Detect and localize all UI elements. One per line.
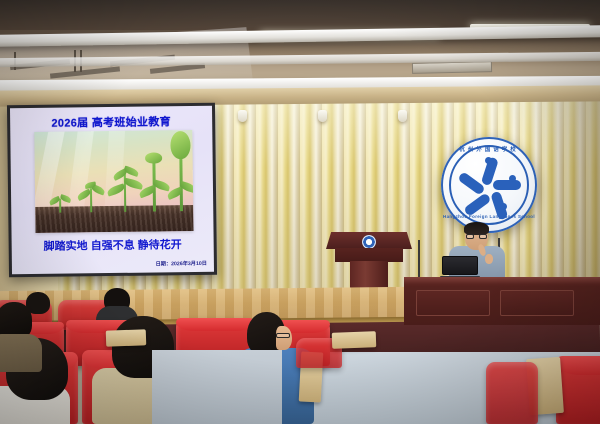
projection-screen: 2026届 高考班始业教育	[7, 103, 217, 278]
seat	[486, 362, 538, 424]
slide-subtitle: 脚踏实地 自强不息 静待花开	[12, 236, 214, 254]
spotlight	[238, 110, 247, 122]
seedling	[77, 178, 105, 212]
seedling	[107, 164, 144, 212]
seedling	[49, 191, 71, 213]
seat-headrest	[556, 356, 600, 375]
laptop-screen	[442, 256, 478, 275]
podium	[326, 232, 412, 294]
auditorium-scene: 杭州外国语学校 Hangzhou Foreign Languages Schoo…	[0, 0, 600, 424]
seat-tray	[106, 329, 147, 346]
emblem-dot	[500, 203, 507, 210]
emblem-dot	[462, 175, 469, 182]
stem	[59, 199, 61, 213]
glasses-icon	[276, 333, 290, 338]
spotlight	[398, 110, 407, 122]
podium-body	[335, 248, 403, 262]
seat	[556, 356, 600, 424]
desk-top	[404, 277, 600, 284]
desk-panel	[500, 290, 574, 316]
leaf	[106, 183, 126, 196]
ceiling	[0, 0, 600, 96]
bud	[170, 131, 190, 159]
spotlight	[318, 110, 327, 122]
presenter-desk	[404, 277, 600, 325]
leaf	[59, 194, 71, 203]
emblem-english-text: Hangzhou Foreign Languages School	[441, 214, 537, 219]
slide-title: 2026届 高考班始业教育	[10, 113, 212, 131]
glasses-lens	[466, 234, 474, 239]
emblem-swirl	[493, 180, 521, 190]
seedling	[166, 133, 193, 211]
microphone-stand	[418, 240, 420, 278]
seat-tray	[332, 331, 377, 349]
aisle-floor	[152, 350, 282, 424]
glasses-lens	[479, 234, 487, 239]
presenter-hand	[485, 254, 493, 264]
emblem-dot	[485, 157, 492, 164]
slide-date: 日期：2026年3月10日	[156, 260, 207, 268]
bud	[145, 152, 162, 163]
slide-photo	[34, 130, 193, 233]
presentation-slide: 2026届 高考班始业教育	[10, 106, 214, 274]
podium-emblem-icon	[362, 235, 376, 249]
desk-panel	[416, 290, 490, 316]
school-emblem: 杭州外国语学校 Hangzhou Foreign Languages Schoo…	[441, 137, 537, 233]
audience-face	[276, 326, 292, 350]
seedling	[139, 149, 170, 211]
emblem-dot	[471, 203, 478, 210]
seat-headrest	[176, 318, 254, 331]
wall-shadow	[530, 100, 600, 296]
glasses-icon	[466, 234, 487, 239]
audience-torso	[0, 334, 42, 372]
ceiling-vent-icon	[412, 61, 492, 74]
emblem-dot	[509, 175, 516, 182]
emblem-chinese-text: 杭州外国语学校	[441, 145, 537, 153]
